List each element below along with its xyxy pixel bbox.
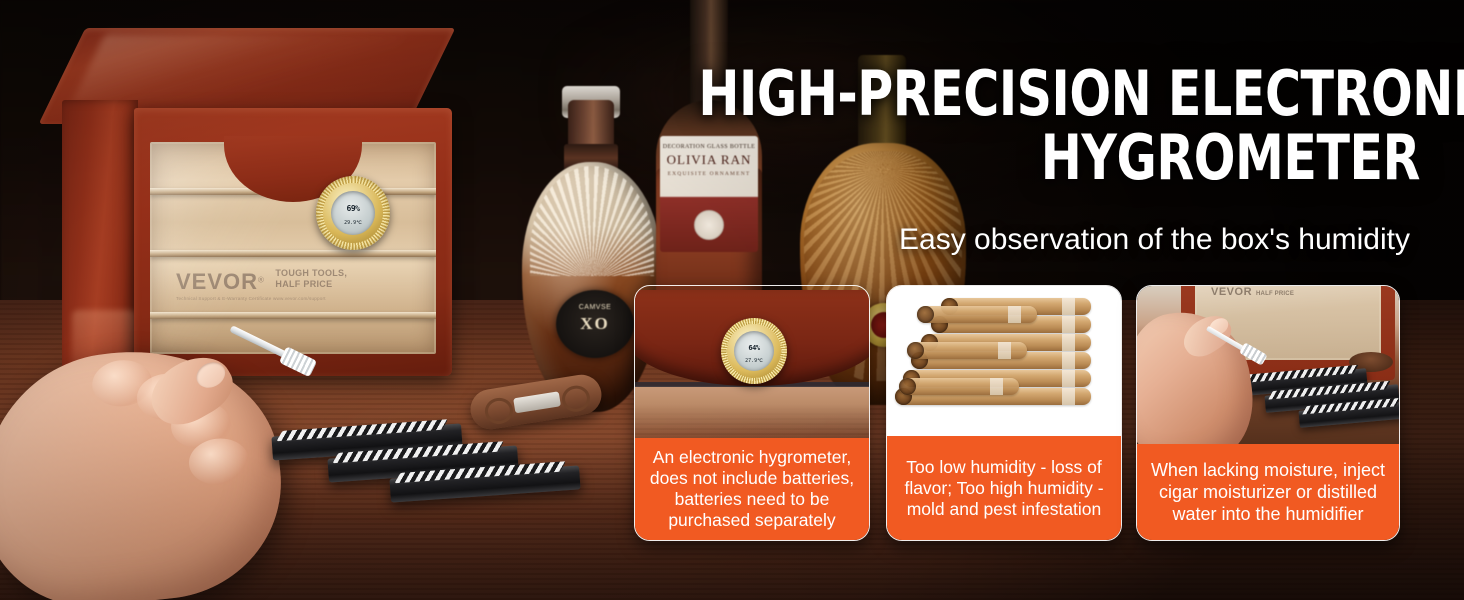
temperature-unit: ℃ (356, 220, 362, 226)
bottle-brand-name: XO (556, 314, 634, 334)
temperature-value: 27.9 (745, 358, 757, 364)
humidity-reading: 69% (347, 198, 360, 216)
vevor-wordmark: VEVOR (1211, 286, 1252, 298)
page-subtitle: Easy observation of the box's humidity (600, 222, 1410, 258)
humidity-unit: % (355, 204, 359, 213)
humidity-value: 69 (347, 204, 356, 213)
humidity-value: 64 (748, 344, 755, 352)
hygrometer-gauge-closeup: 64% 27.9℃ (721, 318, 787, 384)
humidity-unit: % (756, 344, 760, 352)
cigar-stack (887, 286, 1121, 436)
feature-card-hygrometer[interactable]: 64% 27.9℃ An electronic hygrometer, does… (634, 285, 870, 541)
temperature-value: 29.9 (344, 220, 356, 226)
hygrometer-gauge: 69% 29.9℃ (316, 176, 390, 250)
temperature-unit: ℃ (757, 358, 763, 364)
card-caption: When lacking moisture, inject cigar mois… (1137, 444, 1399, 540)
table-surface (635, 386, 869, 438)
hygrometer-lcd-display: 69% 29.9℃ (331, 191, 375, 235)
card-caption: An electronic hygrometer, does not inclu… (635, 438, 869, 540)
headline-line-2: HYGROMETER (698, 126, 1420, 190)
feature-card-cigars[interactable]: Too low humidity - loss of flavor; Too h… (886, 285, 1122, 541)
hygrometer-lcd-display: 64% 27.9℃ (734, 331, 774, 371)
vevor-brand-mark: VEVORHALF PRICE (1211, 286, 1361, 298)
humidor-front-panel: VEVOR® TOUGH TOOLS, HALF PRICE Technical… (134, 108, 452, 376)
card-image-cigars (887, 286, 1121, 436)
feature-card-moisturizer[interactable]: VEVORHALF PRICE When lacking moisture, i… (1136, 285, 1400, 541)
temperature-reading: 27.9℃ (745, 356, 763, 365)
card-image-moisturizer: VEVORHALF PRICE (1137, 286, 1399, 444)
temperature-reading: 29.9℃ (344, 217, 362, 228)
page-title: HIGH-PRECISION ELECTRONIC HYGROMETER (698, 62, 1420, 190)
vevor-tagline-line2: HALF PRICE (275, 279, 332, 289)
humidor-side-panel (62, 100, 138, 376)
humidor-lid-sheen (71, 34, 405, 104)
humidity-reading: 64% (748, 338, 759, 355)
vevor-tagline: TOUGH TOOLS, HALF PRICE (275, 268, 347, 290)
cigar (899, 378, 1019, 395)
bottle-label-xo: CAMVSE XO (556, 290, 634, 358)
card-image-hygrometer: 64% 27.9℃ (635, 286, 869, 438)
cutter-blade (513, 391, 561, 413)
cigar (907, 342, 1027, 359)
bottle-brand-sub: CAMVSE (579, 304, 612, 311)
card-caption: Too low humidity - loss of flavor; Too h… (887, 436, 1121, 540)
feature-card-list: 64% 27.9℃ An electronic hygrometer, does… (634, 285, 1400, 541)
cigar (917, 306, 1037, 323)
vevor-tagline-line1: TOUGH TOOLS, (275, 268, 347, 278)
vevor-tagline: HALF PRICE (1256, 291, 1294, 297)
product-banner: CAMVSE XO DECORATION GLASS BOTTLE OLIVIA… (0, 0, 1464, 600)
headline-line-1: HIGH-PRECISION ELECTRONIC (698, 57, 1464, 130)
